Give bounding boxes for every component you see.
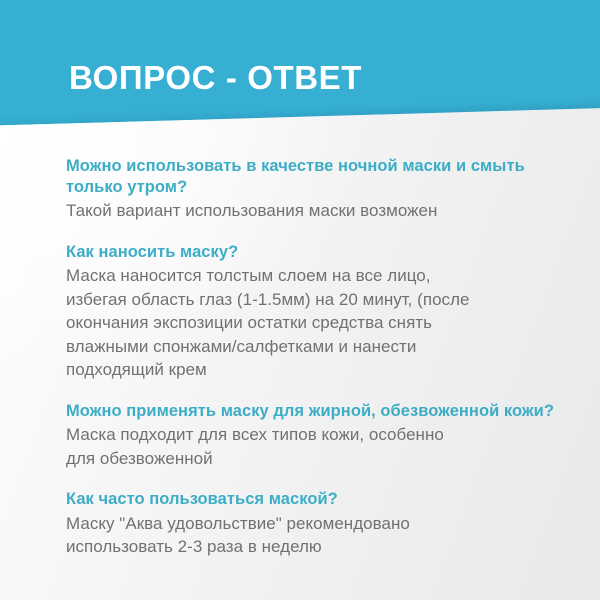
faq-list: Можно использовать в качестве ночной мас… [66,156,558,559]
faq-question-1: Можно использовать в качестве ночной мас… [66,156,558,197]
faq-item-2: Как наносить маску? Маска наносится толс… [66,242,558,382]
faq-question-3-line-2: обезвоженной кожи? [380,402,554,420]
page-title: ВОПРОС - ОТВЕТ [69,58,549,98]
faq-answer-2-line-2: избегая область глаз (1-1.5мм) на 20 мин… [66,288,558,312]
faq-answer-2-line-1: Маска наносится толстым слоем на все лиц… [66,264,558,288]
faq-answer-2-line-4: влажными спонжами/салфетками и нанести [66,335,558,359]
faq-item-1: Можно использовать в качестве ночной мас… [66,156,558,223]
faq-answer-1-line-1: Такой вариант использования маски возмож… [66,199,558,223]
faq-question-3-line-1: Можно применять маску для жирной, [66,402,376,420]
faq-question-2-line-1: Как наносить маску? [66,243,238,261]
slide-root: ВОПРОС - ОТВЕТ Можно использовать в каче… [0,0,600,600]
faq-question-3: Можно применять маску для жирной, обезво… [66,401,558,422]
faq-answer-1: Такой вариант использования маски возмож… [66,199,558,223]
faq-answer-3-line-2: для обезвоженной [66,447,558,471]
faq-answer-2: Маска наносится толстым слоем на все лиц… [66,264,558,382]
faq-answer-3: Маска подходит для всех типов кожи, особ… [66,423,558,470]
faq-question-4-line-1: Как часто пользоваться маской? [66,490,338,508]
faq-answer-3-line-1: Маска подходит для всех типов кожи, особ… [66,423,558,447]
faq-answer-4-line-2: использовать 2-3 раза в неделю [66,535,558,559]
faq-answer-4: Маску "Аква удовольствие" рекомендовано … [66,512,558,559]
faq-question-1-line-1: Можно использовать в качестве ночной мас… [66,157,451,175]
faq-answer-4-line-1: Маску "Аква удовольствие" рекомендовано [66,512,558,536]
faq-answer-2-line-3: окончания экспозиции остатки средства сн… [66,311,558,335]
faq-question-2: Как наносить маску? [66,242,558,263]
faq-question-4: Как часто пользоваться маской? [66,489,558,510]
faq-answer-2-line-5: подходящий крем [66,358,558,382]
faq-item-3: Можно применять маску для жирной, обезво… [66,401,558,471]
faq-item-4: Как часто пользоваться маской? Маску "Ак… [66,489,558,559]
